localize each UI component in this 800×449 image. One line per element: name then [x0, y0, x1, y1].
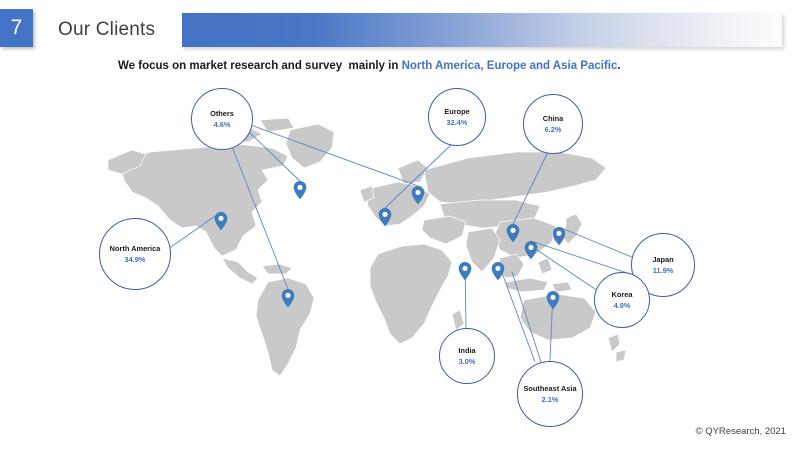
callout-value: 11.9%	[653, 266, 674, 275]
subtitle-suffix: .	[617, 60, 620, 72]
callout-value: 4.9%	[614, 301, 631, 310]
callout-europe[interactable]: Europe 32.4%	[428, 88, 486, 146]
callout-value: 34.9%	[125, 255, 146, 264]
callout-southeast-asia[interactable]: Southeast Asia 2.1%	[517, 361, 583, 427]
callout-value: 4.6%	[214, 120, 231, 129]
callout-china[interactable]: China 6.2%	[523, 94, 583, 154]
callout-north-america[interactable]: North America 34.9%	[99, 218, 171, 290]
page-title: Our Clients	[58, 19, 155, 41]
callout-india[interactable]: India 3.0%	[439, 328, 495, 384]
callout-korea[interactable]: Korea 4.9%	[594, 272, 650, 328]
callout-label: Korea	[612, 290, 633, 299]
callout-value: 6.2%	[545, 125, 562, 134]
subtitle-prefix: We focus on market research and survey m…	[118, 60, 402, 72]
callout-label: Others	[210, 109, 234, 118]
callout-label: North America	[110, 244, 161, 253]
world-map-panel: Others 4.6% Europe 32.4% China 6.2% Nort…	[0, 86, 800, 416]
callout-value: 2.1%	[542, 395, 559, 404]
callout-label: India	[458, 346, 475, 355]
slide-number-badge: 7	[0, 9, 33, 47]
callout-label: Japan	[652, 255, 673, 264]
callout-others[interactable]: Others 4.6%	[191, 88, 253, 150]
title-banner	[182, 13, 782, 47]
footer-credit: © QYResearch, 2021	[696, 426, 786, 437]
callout-value: 3.0%	[459, 357, 476, 366]
callout-label: Southeast Asia	[523, 384, 576, 393]
callout-label: China	[543, 114, 564, 123]
subtitle-highlight: North America, Europe and Asia Pacific	[402, 60, 618, 72]
callout-label: Europe	[444, 107, 469, 116]
callout-value: 32.4%	[447, 118, 468, 127]
subtitle: We focus on market research and survey m…	[118, 60, 621, 72]
